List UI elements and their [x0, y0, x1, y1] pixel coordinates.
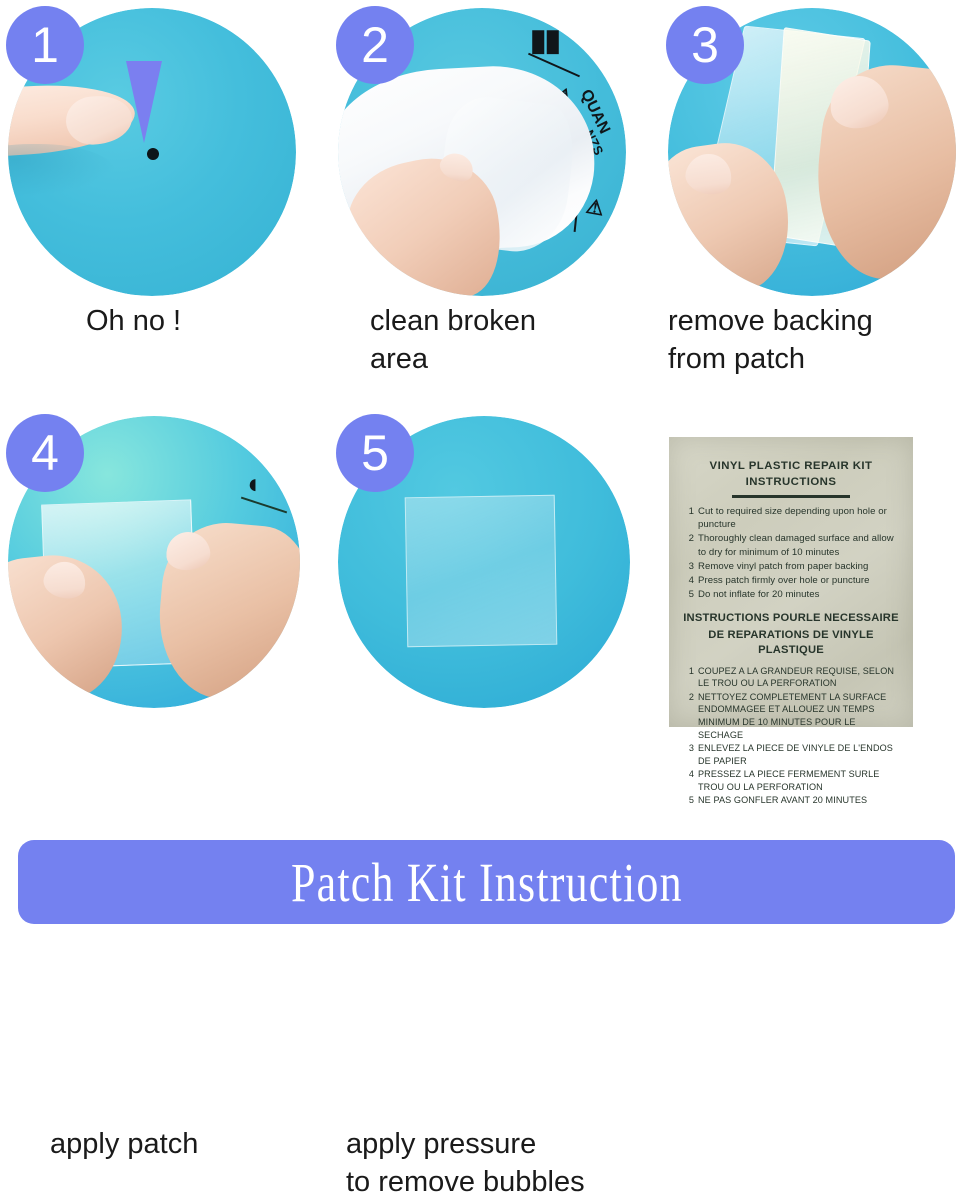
item-number: 2	[683, 691, 694, 742]
item-number: 1	[683, 505, 694, 532]
item-text: Do not inflate for 20 minutes	[698, 588, 899, 601]
item-text: NETTOYEZ COMPLETEMENT LA SURFACE ENDOMMA…	[698, 691, 899, 742]
instruction-card-content: VINYL PLASTIC REPAIR KIT INSTRUCTIONS 1 …	[669, 437, 913, 727]
item-number: 4	[683, 768, 694, 793]
item-number: 3	[683, 742, 694, 767]
warning-logo-icon: ▮▮	[530, 26, 559, 56]
step-card-3: 3 remove backing from patch	[660, 0, 973, 400]
warning-triangle-lower-icon: ⚠	[584, 197, 605, 220]
applied-vinyl-patch	[405, 495, 558, 648]
card-title-line-2: INSTRUCTIONS	[683, 475, 899, 491]
step-number-badge-5: 5	[336, 414, 414, 492]
item-text: ENLEVEZ LA PIECE DE VINYLE DE L'ENDOS DE…	[698, 742, 899, 767]
instruction-item: 2 Thoroughly clean damaged surface and a…	[683, 532, 899, 559]
instruction-item: 3 Remove vinyl patch from paper backing	[683, 560, 899, 573]
card-french-title-line-1: INSTRUCTIONS POURLE NECESSAIRE	[683, 611, 899, 626]
item-number: 1	[683, 665, 694, 690]
step-card-4: ◖ 4 apply patch	[0, 408, 330, 808]
english-instruction-list: 1 Cut to required size depending upon ho…	[683, 505, 899, 601]
item-text: PRESSEZ LA PIECE FERMEMENT SURLE TROU OU…	[698, 768, 899, 793]
instruction-card-photo: VINYL PLASTIC REPAIR KIT INSTRUCTIONS 1 …	[669, 437, 913, 727]
instruction-item-fr: 2 NETTOYEZ COMPLETEMENT LA SURFACE ENDOM…	[683, 691, 899, 742]
title-banner: Patch Kit Instruction	[18, 840, 955, 924]
step-caption-4: apply patch	[50, 1126, 310, 1164]
step-caption-3: remove backing from patch	[668, 303, 968, 378]
instruction-item: 4 Press patch firmly over hole or punctu…	[683, 574, 899, 587]
item-text: Remove vinyl patch from paper backing	[698, 560, 899, 573]
instruction-item-fr: 1 COUPEZ A LA GRANDEUR REQUISE, SELON LE…	[683, 665, 899, 690]
item-number: 2	[683, 532, 694, 559]
step-caption-1: Oh no !	[86, 303, 326, 341]
warning-logo-icon: ◖	[244, 470, 261, 498]
item-number: 5	[683, 588, 694, 601]
step-number-badge-4: 4	[6, 414, 84, 492]
step-number-badge-1: 1	[6, 6, 84, 84]
title-underline	[732, 495, 850, 498]
instruction-item: 1 Cut to required size depending upon ho…	[683, 505, 899, 532]
item-text: Thoroughly clean damaged surface and all…	[698, 532, 899, 559]
infographic-canvas: 1 Oh no ! ▮▮ ⚠ QUAN NZS ⚠ 2 clean broken…	[0, 0, 973, 936]
item-text: Press patch firmly over hole or puncture	[698, 574, 899, 587]
item-text: NE PAS GONFLER AVANT 20 MINUTES	[698, 794, 899, 807]
instruction-item-fr: 3 ENLEVEZ LA PIECE DE VINYLE DE L'ENDOS …	[683, 742, 899, 767]
step-card-2: ▮▮ ⚠ QUAN NZS ⚠ 2 clean broken area	[330, 0, 660, 400]
step-card-1: 1 Oh no !	[0, 0, 330, 400]
step-number-badge-2: 2	[336, 6, 414, 84]
puncture-hole	[147, 148, 159, 160]
exclamation-mark-icon	[126, 61, 162, 143]
card-title-line-1: VINYL PLASTIC REPAIR KIT	[683, 459, 899, 475]
step-caption-5: apply pressure to remove bubbles	[346, 1126, 666, 1201]
item-text: Cut to required size depending upon hole…	[698, 505, 899, 532]
instruction-item: 5 Do not inflate for 20 minutes	[683, 588, 899, 601]
french-instruction-list: 1 COUPEZ A LA GRANDEUR REQUISE, SELON LE…	[683, 665, 899, 807]
step-number-badge-3: 3	[666, 6, 744, 84]
card-french-title-line-2: DE REPARATIONS DE VINYLE PLASTIQUE	[683, 628, 899, 658]
item-number: 5	[683, 794, 694, 807]
step-card-5: 5 apply pressure to remove bubbles	[330, 408, 660, 808]
instruction-item-fr: 4 PRESSEZ LA PIECE FERMEMENT SURLE TROU …	[683, 768, 899, 793]
banner-title: Patch Kit Instruction	[291, 851, 683, 914]
step-caption-2: clean broken area	[370, 303, 650, 378]
instruction-item-fr: 5 NE PAS GONFLER AVANT 20 MINUTES	[683, 794, 899, 807]
item-number: 3	[683, 560, 694, 573]
item-text: COUPEZ A LA GRANDEUR REQUISE, SELON LE T…	[698, 665, 899, 690]
item-number: 4	[683, 574, 694, 587]
